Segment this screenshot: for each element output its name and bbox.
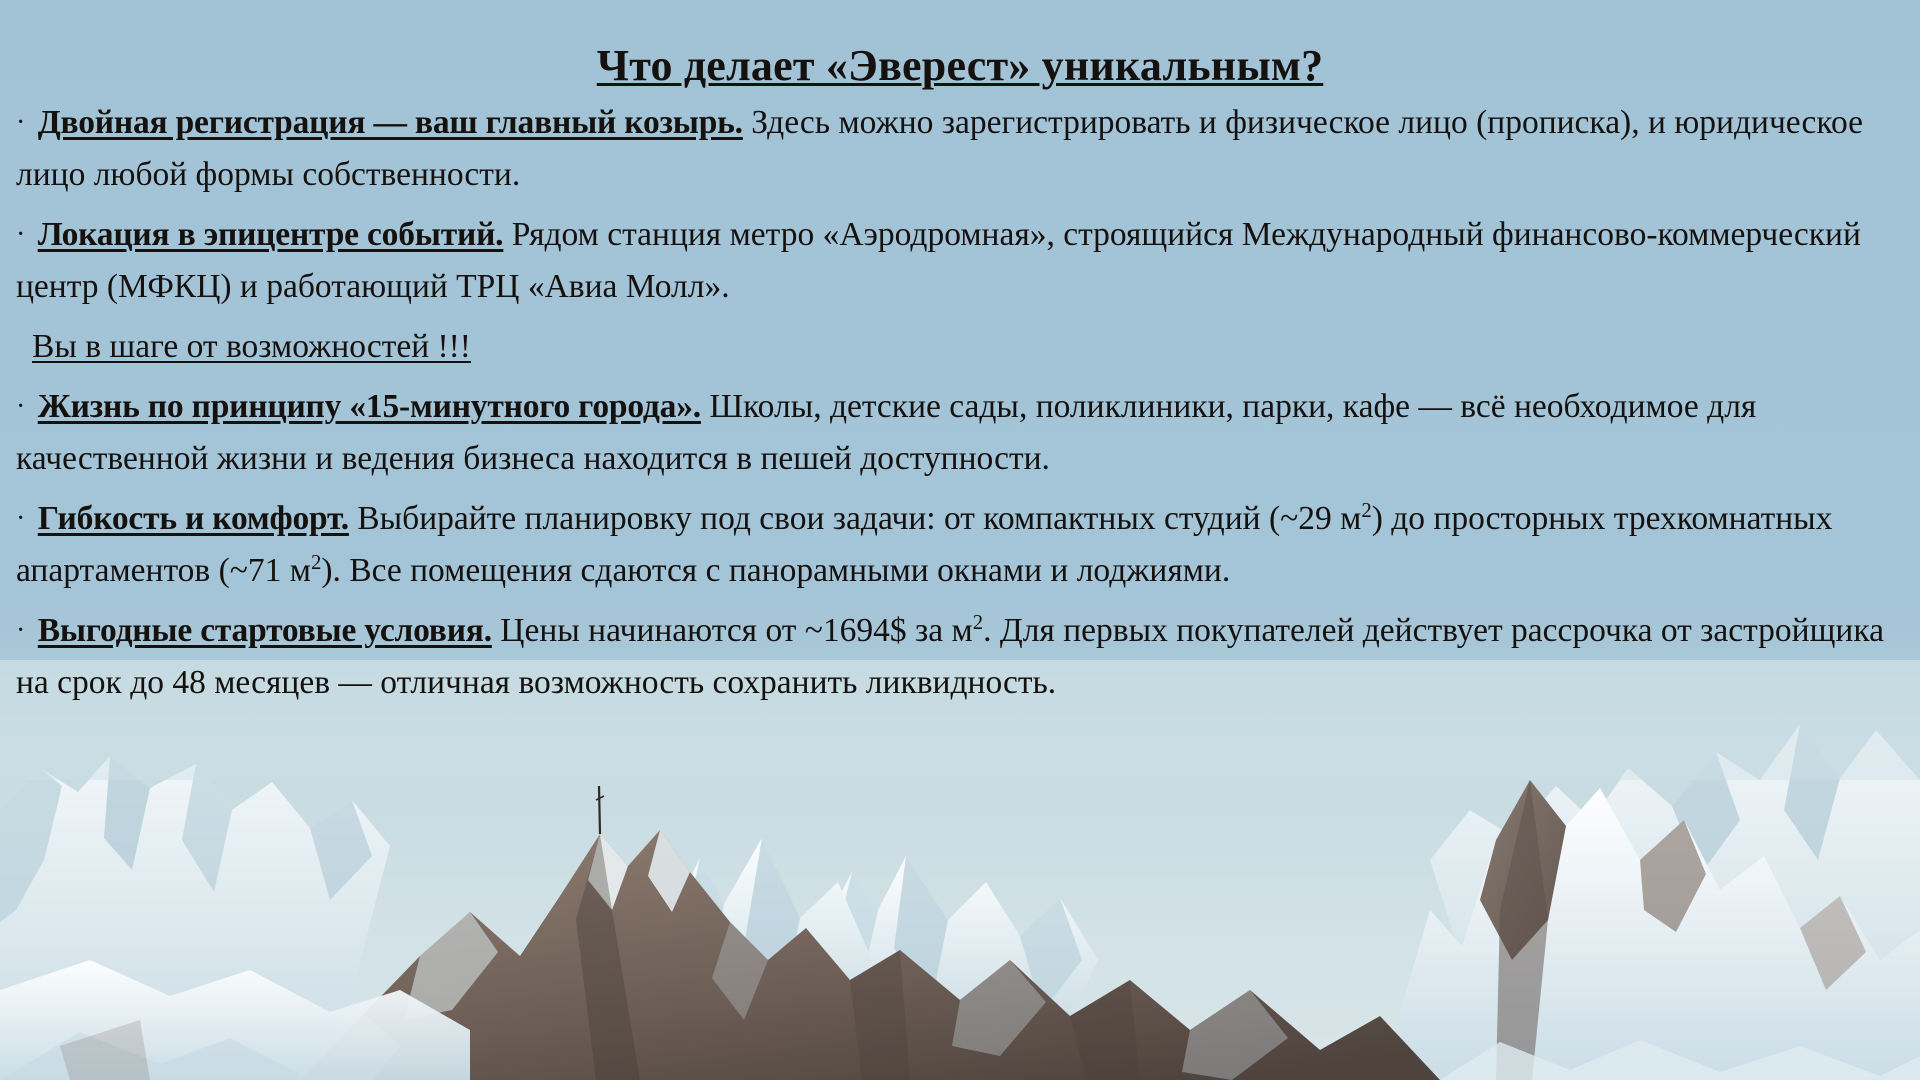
list-item-lead: Жизнь по принципу «15-минутного города». — [38, 388, 701, 425]
list-item-flexibility-comfort: · Гибкость и комфорт. Выбирайте планиров… — [16, 493, 1898, 597]
list-item-fifteen-minute-city: · Жизнь по принципу «15-минутного города… — [16, 381, 1898, 485]
bullet-marker-icon: · — [16, 219, 29, 250]
list-item-body-part1: Выбирайте планировку под свои задачи: от… — [357, 500, 1361, 537]
square-meter-superscript: 2 — [1361, 499, 1371, 522]
list-item-starting-conditions: · Выгодные стартовые условия. Цены начин… — [16, 605, 1898, 709]
presentation-slide: Что делает «Эверест» уникальным? · Двойн… — [0, 0, 1920, 1080]
opportunity-note-text: Вы в шаге от возможностей !!! — [32, 328, 471, 365]
list-item-lead: Двойная регистрация — ваш главный козырь… — [38, 104, 743, 141]
bullet-marker-icon: · — [16, 391, 29, 422]
list-item-lead: Локация в эпицентре событий. — [38, 216, 504, 253]
list-item-lead: Выгодные стартовые условия. — [38, 612, 492, 649]
square-meter-superscript: 2 — [311, 551, 321, 574]
snowy-mountain-range-photo — [0, 660, 1920, 1080]
benefits-list: · Двойная регистрация — ваш главный козы… — [0, 97, 1920, 709]
list-item-body-part1: Цены начинаются от ~1694$ за м — [500, 612, 972, 649]
page-title-text: Что делает «Эверест» уникальным? — [597, 41, 1324, 90]
list-item-body-part3: ). Все помещения сдаются с панорамными о… — [321, 552, 1230, 589]
list-item-location: · Локация в эпицентре событий. Рядом ста… — [16, 209, 1898, 313]
slide-text-layer: Что делает «Эверест» уникальным? · Двойн… — [0, 0, 1920, 717]
bullet-marker-icon: · — [16, 503, 29, 534]
list-item-lead: Гибкость и комфорт. — [38, 500, 349, 537]
square-meter-superscript: 2 — [973, 611, 983, 634]
opportunity-note: Вы в шаге от возможностей !!! — [16, 321, 1898, 373]
bullet-marker-icon: · — [16, 615, 29, 646]
bullet-marker-icon: · — [16, 107, 29, 138]
page-title: Что делает «Эверест» уникальным? — [0, 40, 1920, 93]
list-item-dual-registration: · Двойная регистрация — ваш главный козы… — [16, 97, 1898, 201]
